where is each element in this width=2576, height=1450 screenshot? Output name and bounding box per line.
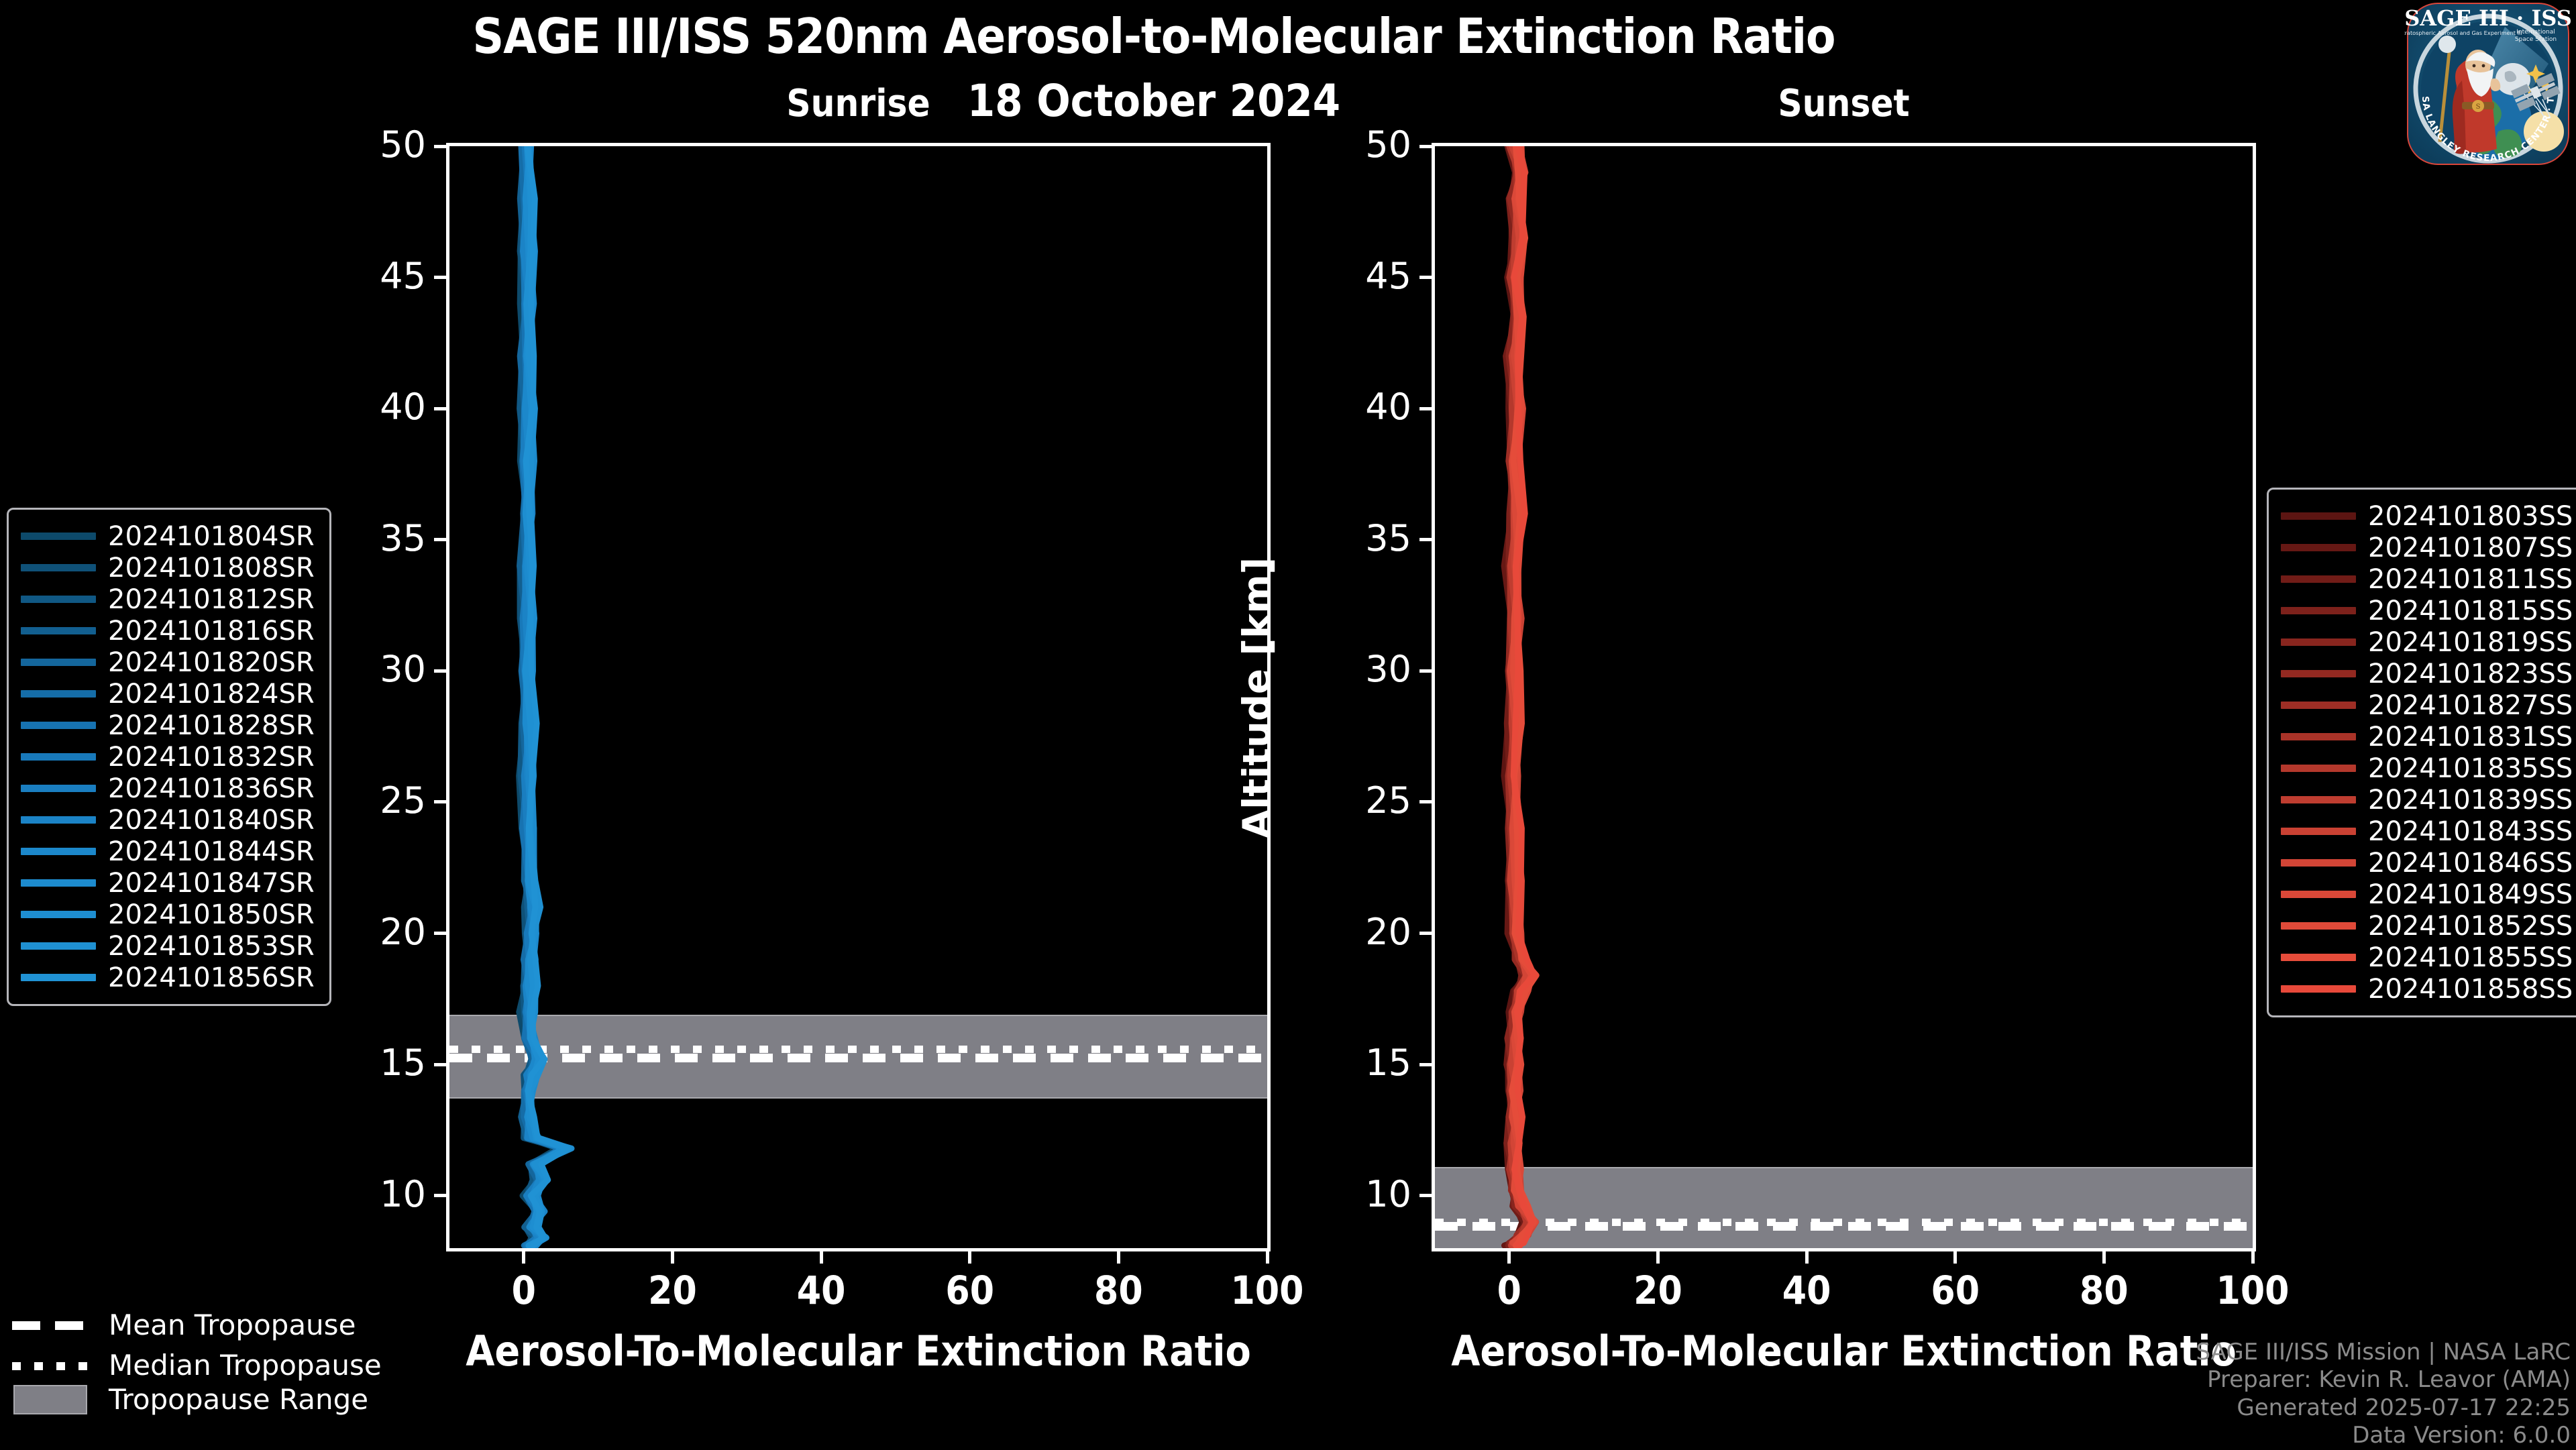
legend-item[interactable]: 2024101831SS <box>2281 721 2573 752</box>
legend-color-swatch <box>2281 954 2356 961</box>
legend-color-swatch <box>21 753 96 761</box>
sunrise-xtick-mark <box>671 1251 674 1264</box>
sunset-ytick-mark <box>1419 407 1432 410</box>
legend-color-swatch <box>2281 702 2356 709</box>
key-row-tropopause-range: Tropopause Range <box>12 1385 382 1432</box>
svg-text:S: S <box>2476 103 2481 111</box>
sunset-ytick-label-50: 50 <box>1331 123 1411 166</box>
legend-color-swatch <box>21 879 96 887</box>
sunset-xtick-mark <box>1805 1251 1809 1264</box>
legend-item[interactable]: 2024101823SS <box>2281 658 2573 689</box>
legend-item[interactable]: 2024101839SS <box>2281 784 2573 816</box>
legend-color-swatch <box>2281 670 2356 677</box>
legend-color-swatch <box>21 785 96 792</box>
sunrise-xtick-label-20: 20 <box>612 1268 733 1313</box>
sunset-yaxis-title: Altitude [km] <box>1236 496 1279 899</box>
legend-item-label: 2024101852SS <box>2368 911 2573 942</box>
legend-item-label: 2024101836SR <box>108 773 315 804</box>
sunrise-xaxis-title: Aerosol-To-Molecular Extinction Ratio <box>446 1327 1271 1376</box>
legend-item-label: 2024101819SS <box>2368 627 2573 658</box>
sunset-ytick-label-35: 35 <box>1331 517 1411 559</box>
legend-item-label: 2024101807SS <box>2368 533 2573 563</box>
legend-item-label: 2024101804SR <box>108 521 315 552</box>
sunrise-xtick-label-80: 80 <box>1058 1268 1179 1313</box>
sunrise-ytick-label-25: 25 <box>345 779 426 822</box>
legend-item[interactable]: 2024101852SS <box>2281 910 2573 942</box>
credit-mission: SAGE III/ISS Mission | NASA LaRC <box>2196 1339 2571 1366</box>
sunset-ytick-label-15: 15 <box>1331 1042 1411 1084</box>
key-label-mean-tropopause: Mean Tropopause <box>109 1308 356 1341</box>
legend-color-swatch <box>2281 575 2356 583</box>
page-title: SAGE III/ISS 520nm Aerosol-to-Molecular … <box>0 12 2308 60</box>
legend-item-label: 2024101832SR <box>108 742 315 773</box>
legend-item[interactable]: 2024101828SR <box>21 710 315 741</box>
key-label-median-tropopause: Median Tropopause <box>109 1349 382 1382</box>
legend-color-swatch <box>21 564 96 571</box>
legend-item[interactable]: 2024101836SR <box>21 773 315 804</box>
sunset-xtick-label-60: 60 <box>1895 1268 2016 1313</box>
legend-item-label: 2024101808SR <box>108 553 315 583</box>
credit-data-version: Data Version: 6.0.0 <box>2196 1422 2571 1449</box>
sunrise-xtick-label-60: 60 <box>910 1268 1030 1313</box>
sunrise-series-line <box>526 146 568 1245</box>
sunrise-xtick-mark <box>820 1251 823 1264</box>
legend-item[interactable]: 2024101803SS <box>2281 500 2573 532</box>
sunset-xtick-label-80: 80 <box>2043 1268 2164 1313</box>
legend-item-label: 2024101835SS <box>2368 753 2573 784</box>
sunset-xaxis-title: Aerosol-To-Molecular Extinction Ratio <box>1432 1327 2256 1376</box>
legend-item-label: 2024101840SR <box>108 805 315 836</box>
sunset-xtick-mark <box>1507 1251 1511 1264</box>
sunrise-ytick-label-30: 30 <box>345 648 426 690</box>
legend-color-swatch <box>2281 828 2356 835</box>
legend-color-swatch <box>21 690 96 698</box>
sunset-ytick-label-30: 30 <box>1331 648 1411 690</box>
legend-item[interactable]: 2024101844SR <box>21 836 315 867</box>
legend-color-swatch <box>2281 544 2356 551</box>
legend-item-label: 2024101853SR <box>108 931 315 962</box>
sunrise-ytick-label-15: 15 <box>345 1042 426 1084</box>
sunset-ytick-mark <box>1419 800 1432 803</box>
legend-color-swatch <box>2281 922 2356 930</box>
legend-color-swatch <box>2281 859 2356 867</box>
legend-color-swatch <box>2281 607 2356 614</box>
sunrise-xtick-mark <box>968 1251 971 1264</box>
sunset-ytick-mark <box>1419 276 1432 279</box>
legend-item-label: 2024101827SS <box>2368 690 2573 721</box>
sunrise-profile-curves <box>449 146 1267 1248</box>
sunrise-ytick-label-45: 45 <box>345 255 426 297</box>
legend-item[interactable]: 2024101812SR <box>21 583 315 615</box>
legend-item[interactable]: 2024101840SR <box>21 804 315 836</box>
legend-item-label: 2024101820SR <box>108 647 315 678</box>
legend-item[interactable]: 2024101804SR <box>21 520 315 552</box>
sunrise-ytick-label-35: 35 <box>345 517 426 559</box>
sunrise-xtick-mark <box>1266 1251 1269 1264</box>
sunrise-ytick-label-20: 20 <box>345 911 426 953</box>
legend-item[interactable]: 2024101832SR <box>21 741 315 773</box>
legend-item-label: 2024101828SR <box>108 710 315 741</box>
legend-item[interactable]: 2024101820SR <box>21 647 315 678</box>
sunrise-plot-area <box>446 143 1271 1251</box>
legend-item-label: 2024101816SR <box>108 616 315 647</box>
legend-item[interactable]: 2024101856SR <box>21 962 315 993</box>
credit-preparer: Preparer: Kevin R. Leavor (AMA) <box>2196 1366 2571 1394</box>
sunrise-ytick-mark <box>434 1194 446 1197</box>
sunset-ytick-mark <box>1419 669 1432 673</box>
legend-item[interactable]: 2024101855SS <box>2281 942 2573 973</box>
legend-item-label: 2024101803SS <box>2368 501 2573 532</box>
legend-item[interactable]: 2024101815SS <box>2281 595 2573 626</box>
tropopause-key: Mean Tropopause Median Tropopause Tropop… <box>12 1304 382 1432</box>
legend-item-label: 2024101855SS <box>2368 942 2573 973</box>
sunrise-ytick-mark <box>434 145 446 148</box>
sunrise-xtick-mark <box>522 1251 525 1264</box>
legend-item[interactable]: 2024101858SS <box>2281 973 2573 1005</box>
legend-color-swatch <box>21 533 96 540</box>
key-row-median-tropopause: Median Tropopause <box>12 1345 382 1385</box>
sunset-legend: 2024101803SS2024101807SS2024101811SS2024… <box>2267 488 2576 1017</box>
gray-band-swatch-icon <box>12 1385 93 1400</box>
legend-color-swatch <box>2281 891 2356 898</box>
sunset-xtick-label-100: 100 <box>2192 1268 2313 1313</box>
sunset-profile-curves <box>1435 146 2253 1248</box>
legend-color-swatch <box>2281 985 2356 993</box>
legend-color-swatch <box>21 722 96 729</box>
legend-color-swatch <box>21 911 96 918</box>
legend-color-swatch <box>21 974 96 981</box>
legend-item-label: 2024101846SS <box>2368 848 2573 879</box>
sunrise-ytick-label-10: 10 <box>345 1173 426 1215</box>
sunset-ytick-label-25: 25 <box>1331 779 1411 822</box>
legend-item[interactable]: 2024101811SS <box>2281 563 2573 595</box>
legend-item-label: 2024101812SR <box>108 584 315 615</box>
sunrise-xtick-mark <box>1117 1251 1120 1264</box>
sunset-ytick-label-10: 10 <box>1331 1173 1411 1215</box>
legend-item-label: 2024101858SS <box>2368 974 2573 1005</box>
sunrise-ytick-mark <box>434 932 446 935</box>
patch-subtitle-left: Stratospheric Aerosol and Gas Experiment… <box>2404 30 2522 36</box>
legend-item-label: 2024101847SR <box>108 868 315 899</box>
patch-subtitle-right-line2: Space Station <box>2515 36 2557 43</box>
legend-item[interactable]: 2024101827SS <box>2281 689 2573 721</box>
dashed-line-icon <box>12 1317 93 1332</box>
legend-color-swatch <box>2281 638 2356 646</box>
sunset-xtick-mark <box>2102 1251 2106 1264</box>
sunset-ytick-mark <box>1419 145 1432 148</box>
legend-item[interactable]: 2024101835SS <box>2281 752 2573 784</box>
legend-item[interactable]: 2024101824SR <box>21 678 315 710</box>
sunset-xtick-mark <box>1953 1251 1957 1264</box>
legend-item-label: 2024101849SS <box>2368 879 2573 910</box>
legend-item[interactable]: 2024101816SR <box>21 615 315 647</box>
sunrise-ytick-label-50: 50 <box>345 123 426 166</box>
sunrise-ytick-mark <box>434 800 446 803</box>
sunset-ytick-mark <box>1419 932 1432 935</box>
legend-item[interactable]: 2024101819SS <box>2281 626 2573 658</box>
sunrise-xtick-label-100: 100 <box>1207 1268 1328 1313</box>
sunrise-ytick-mark <box>434 1063 446 1066</box>
legend-color-swatch <box>2281 733 2356 740</box>
legend-item-label: 2024101843SS <box>2368 816 2573 847</box>
credit-generated: Generated 2025-07-17 22:25 <box>2196 1394 2571 1422</box>
credits-block: SAGE III/ISS Mission | NASA LaRC Prepare… <box>2196 1339 2571 1450</box>
legend-item[interactable]: 2024101849SS <box>2281 879 2573 910</box>
legend-color-swatch <box>21 816 96 824</box>
sunset-ytick-mark <box>1419 538 1432 541</box>
legend-color-swatch <box>21 627 96 634</box>
sage-iii-iss-mission-patch-icon: S BALL · NASA LANGLEY RESEARCH CENTER · … <box>2404 0 2572 168</box>
patch-subtitle-right-line1: International <box>2516 29 2555 36</box>
sunrise-ytick-mark <box>434 407 446 410</box>
legend-item[interactable]: 2024101807SS <box>2281 532 2573 563</box>
legend-item-label: 2024101839SS <box>2368 785 2573 816</box>
legend-item[interactable]: 2024101853SR <box>21 930 315 962</box>
legend-item-label: 2024101831SS <box>2368 722 2573 752</box>
sunrise-xtick-label-40: 40 <box>761 1268 881 1313</box>
legend-item-label: 2024101811SS <box>2368 564 2573 595</box>
sunset-xtick-mark <box>2251 1251 2255 1264</box>
legend-color-swatch <box>21 596 96 603</box>
legend-color-swatch <box>2281 796 2356 803</box>
sunset-ytick-label-40: 40 <box>1331 386 1411 428</box>
legend-item[interactable]: 2024101843SS <box>2281 816 2573 847</box>
legend-item[interactable]: 2024101850SR <box>21 899 315 930</box>
sunset-panel-subtitle: Sunset <box>1432 82 2256 125</box>
legend-item-label: 2024101856SR <box>108 962 315 993</box>
legend-color-swatch <box>2281 765 2356 772</box>
legend-item-label: 2024101850SR <box>108 899 315 930</box>
legend-item-label: 2024101844SR <box>108 836 315 867</box>
key-label-tropopause-range: Tropopause Range <box>109 1385 368 1414</box>
legend-item-label: 2024101824SR <box>108 679 315 710</box>
sunset-xtick-mark <box>1656 1251 1660 1264</box>
sunset-plot-area <box>1432 143 2256 1251</box>
sunrise-ytick-mark <box>434 538 446 541</box>
legend-item-label: 2024101815SS <box>2368 596 2573 626</box>
legend-item[interactable]: 2024101847SR <box>21 867 315 899</box>
sunset-xtick-label-0: 0 <box>1449 1268 1570 1313</box>
sunrise-xtick-label-0: 0 <box>464 1268 584 1313</box>
sunset-xtick-label-20: 20 <box>1597 1268 1718 1313</box>
legend-item-label: 2024101823SS <box>2368 659 2573 689</box>
dotted-line-icon <box>12 1357 93 1372</box>
sunset-ytick-label-45: 45 <box>1331 255 1411 297</box>
sunset-ytick-mark <box>1419 1194 1432 1197</box>
legend-color-swatch <box>21 848 96 855</box>
sunrise-panel-subtitle: Sunrise <box>446 82 1271 125</box>
sunrise-legend: 2024101804SR2024101808SR2024101812SR2024… <box>7 508 331 1006</box>
legend-color-swatch <box>21 942 96 950</box>
legend-color-swatch <box>2281 512 2356 520</box>
legend-color-swatch <box>21 659 96 666</box>
sunset-ytick-label-20: 20 <box>1331 911 1411 953</box>
sunrise-ytick-label-40: 40 <box>345 386 426 428</box>
legend-item[interactable]: 2024101846SS <box>2281 847 2573 879</box>
sunset-ytick-mark <box>1419 1063 1432 1066</box>
sunrise-ytick-mark <box>434 276 446 279</box>
sunset-xtick-label-40: 40 <box>1746 1268 1867 1313</box>
legend-item[interactable]: 2024101808SR <box>21 552 315 583</box>
patch-title: SAGE III · ISS <box>2404 5 2572 31</box>
key-row-mean-tropopause: Mean Tropopause <box>12 1304 382 1345</box>
sunrise-ytick-mark <box>434 669 446 673</box>
